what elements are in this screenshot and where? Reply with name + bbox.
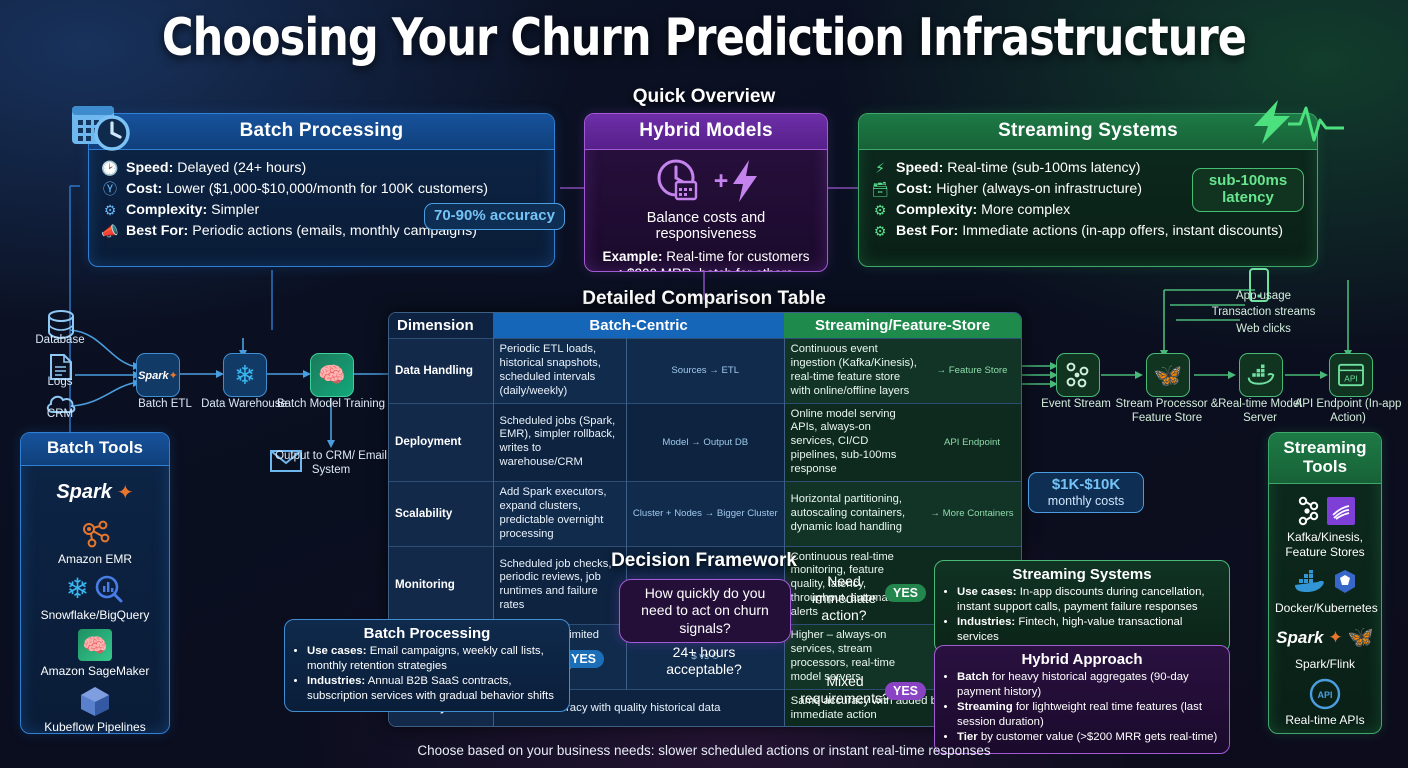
card-hybrid-models: Hybrid Models + Balance costs and respon… (584, 113, 828, 272)
card-hybrid-body: + Balance costs and responsiveness Examp… (585, 150, 827, 272)
tool-item-sagemaker: 🧠 Amazon SageMaker (27, 628, 163, 678)
pipeline-label-api-endpoint: API Endpoint (In-app Action) (1288, 398, 1408, 426)
badge-monthly-cost: $1K-$10K monthly costs (1028, 472, 1144, 513)
kafka-icon (1275, 494, 1375, 528)
decision-branch-mixed: Mixed requirements? (790, 673, 900, 707)
tool-item-kafka: Kafka/Kinesis, Feature Stores (1275, 494, 1375, 558)
source-label-database: Database (25, 334, 95, 346)
panel-streaming-tools-body: Kafka/Kinesis, Feature Stores Docker/Kub… (1269, 484, 1381, 734)
batch-bestfor-label: Best For: (126, 223, 188, 239)
outcome-batch-bullet: Use cases: Email campaigns, weekly call … (307, 644, 560, 673)
th-streaming: Streaming/Feature-Store (784, 313, 1021, 339)
batch-item-cost: Ⓨ Cost: Lower ($1,000-$10,000/month for … (101, 180, 542, 200)
outcome-card-hybrid: Hybrid Approach Batch for heavy historic… (934, 645, 1230, 754)
cell-batch: Scheduled jobs (Spark, EMR), simpler rol… (493, 403, 626, 481)
page-title: Choosing Your Churn Prediction Infrastru… (56, 8, 1351, 68)
docker-kubernetes-icon (1275, 565, 1375, 599)
tool-label-docker-kubernetes: Docker/Kubernetes (1275, 601, 1375, 615)
hybrid-tagline: Balance costs and responsiveness (597, 210, 815, 242)
footer-caption: Choose based on your business needs: slo… (0, 743, 1408, 758)
cell-dimension: Data Handling (389, 339, 493, 404)
cell-batch-mini: Model → Output DB (626, 403, 784, 481)
tool-item-docker-kubernetes: Docker/Kubernetes (1275, 565, 1375, 615)
dollar-icon: Ⓨ (101, 180, 119, 200)
cell-stream: Online model serving APIs, always-on ser… (784, 403, 923, 481)
spark-icon: Spark✦ (138, 369, 178, 382)
outcome-streaming-title: Streaming Systems (944, 566, 1220, 583)
section-heading-decision: Decision Framework (584, 550, 824, 572)
table-row: Deployment Scheduled jobs (Spark, EMR), … (389, 403, 1021, 481)
spark-icon: Spark✦ (27, 476, 163, 510)
badge-latency-line1: sub-100ms (1209, 172, 1287, 189)
bullet-label: Industries: (957, 616, 1015, 628)
pipeline-node-model-server (1239, 353, 1283, 397)
cell-stream-mini: API Endpoint (923, 403, 1021, 481)
cell-batch: Add Spark executors, expand clusters, pr… (493, 482, 626, 547)
section-heading-overview: Quick Overview (604, 86, 804, 108)
stream-speed-value: Real-time (sub-100ms latency) (947, 160, 1140, 176)
svg-text:API: API (1317, 690, 1332, 700)
infographic-root: Choosing Your Churn Prediction Infrastru… (0, 0, 1408, 768)
tool-item-spark: Spark✦ (27, 476, 163, 510)
bolt-pulse-icon (1248, 98, 1348, 146)
snowflake-bigquery-icon: ❄ (27, 572, 163, 606)
tool-item-kubeflow: Kubeflow Pipelines (27, 684, 163, 734)
cell-batch-mini: Sources → ETL (626, 339, 784, 404)
tool-item-spark-flink: Spark✦ 🦋 Spark/Flink (1275, 621, 1375, 671)
cell-stream: Continuous event ingestion (Kafka/Kinesi… (784, 339, 923, 404)
outcome-streaming-bullet: Industries: Fintech, high-value transact… (957, 615, 1220, 644)
svg-text:API: API (1344, 373, 1357, 383)
bullet-label: Batch (957, 671, 989, 683)
pipeline-node-api-endpoint: API (1329, 353, 1373, 397)
stream-source-transactions: Transaction streams (1196, 304, 1331, 320)
pipeline-label-output: Output to CRM/ Email System (271, 450, 391, 478)
tool-label-sagemaker: Amazon SageMaker (27, 664, 163, 678)
sagemaker-icon: 🧠 (27, 628, 163, 662)
panel-batch-tools: Batch Tools Spark✦ Amazon EMR ❄ Snowflak… (20, 432, 170, 734)
snowflake-icon: ❄ (234, 362, 256, 388)
decision-branch-hours: 24+ hours acceptable? (644, 644, 764, 678)
cell-stream: Horizontal partitioning, autoscaling con… (784, 482, 923, 547)
gears-icon: ⚙ (101, 201, 119, 221)
tool-label-emr: Amazon EMR (27, 552, 163, 566)
tool-item-realtime-apis: API Real-time APIs (1275, 677, 1375, 727)
flink-icon: 🦋 (1154, 362, 1183, 389)
pill-yes-hybrid: YES (885, 682, 926, 700)
calendar-clock-icon (70, 100, 136, 156)
card-hybrid-title: Hybrid Models (585, 114, 827, 150)
stream-complexity-value: More complex (981, 202, 1070, 218)
cell-dimension: Deployment (389, 403, 493, 481)
th-batch-centric: Batch-Centric (493, 313, 784, 339)
event-nodes-icon (1065, 362, 1091, 388)
outcome-streaming-bullet: Use cases: In-app discounts during cance… (957, 585, 1220, 614)
table-row: Scalability Add Spark executors, expand … (389, 482, 1021, 547)
clock-icon: 🕑 (101, 159, 119, 179)
source-label-crm: CRM (25, 408, 95, 420)
hybrid-example-label: Example: (602, 249, 662, 264)
cell-dimension: Monitoring (389, 546, 493, 624)
panel-batch-tools-body: Spark✦ Amazon EMR ❄ Snowflake/BigQuery (21, 466, 169, 734)
outcome-hybrid-bullet: Batch for heavy historical aggregates (9… (957, 670, 1220, 699)
batch-cost-label: Cost: (126, 181, 162, 197)
badge-batch-accuracy: 70-90% accuracy (424, 203, 565, 230)
tool-label-realtime-apis: Real-time APIs (1275, 713, 1375, 727)
bullet-label: Industries: (307, 675, 365, 687)
batch-complexity-label: Complexity: (126, 202, 207, 218)
brain-icon: 🧠 (318, 362, 345, 388)
docker-icon (1247, 364, 1275, 386)
cell-dimension: Scalability (389, 482, 493, 547)
pipeline-node-event-stream (1056, 353, 1100, 397)
card-batch-processing: Batch Processing 🕑 Speed: Delayed (24+ h… (88, 113, 555, 267)
stream-bestfor-value: Immediate actions (in-app offers, instan… (962, 223, 1283, 239)
outcome-card-batch: Batch Processing Use cases: Email campai… (284, 619, 570, 712)
stream-source-web-clicks: Web clicks (1196, 321, 1331, 337)
hybrid-clock-bolt-icon: + (597, 154, 815, 208)
outcome-batch-title: Batch Processing (294, 625, 560, 642)
batch-speed-value: Delayed (24+ hours) (177, 160, 306, 176)
tool-item-snowflake-bigquery: ❄ Snowflake/BigQuery (27, 572, 163, 622)
panel-streaming-tools: Streaming Tools Kafka/Kinesis, Feature S… (1268, 432, 1382, 734)
bullet-text: by customer value (>$200 MRR gets real-t… (981, 731, 1217, 743)
pill-yes-streaming: YES (885, 584, 926, 602)
cell-batch: Periodic ETL loads, historical snapshots… (493, 339, 626, 404)
stream-bestfor-label: Best For: (896, 223, 958, 239)
api-icon: API (1275, 677, 1375, 711)
panel-streaming-tools-title: Streaming Tools (1269, 433, 1381, 484)
decision-branch-immediate: Need immediate action? (800, 573, 888, 624)
pipeline-label-model-training: Batch Model Training (271, 398, 391, 412)
gears-network-icon: ⚙ (871, 222, 889, 242)
outcome-hybrid-bullet: Streaming for lightweight real time feat… (957, 700, 1220, 729)
gears-icon: ⚙ (871, 201, 889, 221)
tool-label-spark-flink: Spark/Flink (1275, 657, 1375, 671)
pipeline-node-stream-processor: 🦋 (1146, 353, 1190, 397)
bullet-text: for heavy historical aggregates (90-day … (957, 671, 1189, 698)
cost-badge-main: $1K-$10K (1052, 476, 1120, 493)
stream-source-labels: App usage Transaction streams Web clicks (1196, 288, 1331, 337)
badge-stream-latency: sub-100ms latency (1192, 168, 1304, 212)
section-heading-table: Detailed Comparison Table (554, 288, 854, 310)
database-icon: 🗃 (871, 180, 889, 200)
stream-complexity-label: Complexity: (896, 202, 977, 218)
decision-question: How quickly do you need to act on churn … (619, 579, 791, 643)
source-label-logs: Logs (25, 376, 95, 388)
tool-label-kafka: Kafka/Kinesis, Feature Stores (1275, 530, 1375, 558)
kubeflow-icon (27, 684, 163, 718)
table-row: Data Handling Periodic ETL loads, histor… (389, 339, 1021, 404)
outcome-card-streaming: Streaming Systems Use cases: In-app disc… (934, 560, 1230, 653)
stream-speed-label: Speed: (896, 160, 943, 176)
cell-stream-mini: → Feature Store (923, 339, 1021, 404)
pipeline-node-batch-etl: Spark✦ (136, 353, 180, 397)
badge-latency-line2: latency (1202, 190, 1294, 207)
cell-batch-mini: Cluster + Nodes → Bigger Cluster (626, 482, 784, 547)
bullet-label: Use cases: (957, 586, 1017, 598)
batch-cost-value: Lower ($1,000-$10,000/month for 100K cus… (166, 181, 488, 197)
api-icon: API (1337, 363, 1365, 387)
bullet-label: Tier (957, 731, 978, 743)
card-batch-body: 🕑 Speed: Delayed (24+ hours) Ⓨ Cost: Low… (89, 150, 554, 252)
table-header-row: Dimension Batch-Centric Streaming/Featur… (389, 313, 1021, 339)
pipeline-node-model-training: 🧠 (310, 353, 354, 397)
bullet-label: Streaming (957, 701, 1013, 713)
panel-batch-tools-title: Batch Tools (21, 433, 169, 466)
stream-cost-label: Cost: (896, 181, 932, 197)
batch-speed-label: Speed: (126, 160, 173, 176)
tool-label-kubeflow: Kubeflow Pipelines (27, 720, 163, 734)
hybrid-example: Example: Real-time for customers >$200 M… (597, 249, 815, 272)
stream-source-app-usage: App usage (1196, 288, 1331, 304)
cost-badge-sub: monthly costs (1038, 494, 1134, 508)
th-dimension: Dimension (389, 313, 493, 339)
bullet-label: Use cases: (307, 645, 367, 657)
megaphone-icon: 📣 (101, 222, 119, 242)
tool-item-emr: Amazon EMR (27, 516, 163, 566)
emr-icon (27, 516, 163, 550)
stream-item-bestfor: ⚙ Best For: Immediate actions (in-app of… (871, 222, 1305, 242)
card-batch-title: Batch Processing (89, 114, 554, 150)
batch-item-speed: 🕑 Speed: Delayed (24+ hours) (101, 159, 542, 179)
tool-label-snowflake-bigquery: Snowflake/BigQuery (27, 608, 163, 622)
cell-stream-mini: → More Containers (923, 482, 1021, 547)
spark-flink-icon: Spark✦ 🦋 (1275, 621, 1375, 655)
stream-cost-value: Higher (always-on infrastructure) (936, 181, 1142, 197)
batch-complexity-value: Simpler (211, 202, 259, 218)
bolt-icon: ⚡ (871, 159, 889, 179)
outcome-hybrid-title: Hybrid Approach (944, 651, 1220, 668)
pipeline-node-data-warehouse: ❄ (223, 353, 267, 397)
outcome-batch-bullet: Industries: Annual B2B SaaS contracts, s… (307, 674, 560, 703)
